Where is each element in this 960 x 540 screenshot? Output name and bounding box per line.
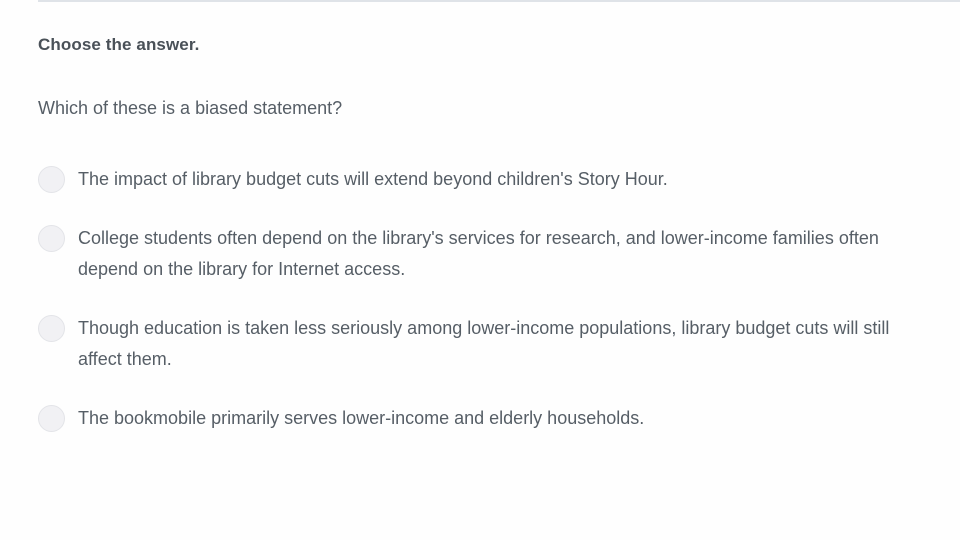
top-divider bbox=[38, 0, 960, 2]
answer-options-list: The impact of library budget cuts will e… bbox=[38, 120, 922, 434]
answer-option-1[interactable]: The impact of library budget cuts will e… bbox=[38, 164, 922, 195]
quiz-question-panel: Choose the answer. Which of these is a b… bbox=[0, 0, 960, 540]
prompt-heading: Choose the answer. bbox=[38, 34, 922, 56]
radio-button-icon[interactable] bbox=[38, 315, 65, 342]
answer-option-label: The bookmobile primarily serves lower-in… bbox=[78, 403, 644, 434]
radio-button-icon[interactable] bbox=[38, 166, 65, 193]
answer-option-label: Though education is taken less seriously… bbox=[78, 313, 908, 375]
answer-option-label: The impact of library budget cuts will e… bbox=[78, 164, 668, 195]
answer-option-label: College students often depend on the lib… bbox=[78, 223, 908, 285]
radio-button-icon[interactable] bbox=[38, 225, 65, 252]
radio-button-icon[interactable] bbox=[38, 405, 65, 432]
answer-option-2[interactable]: College students often depend on the lib… bbox=[38, 223, 922, 285]
answer-option-3[interactable]: Though education is taken less seriously… bbox=[38, 313, 922, 375]
answer-option-4[interactable]: The bookmobile primarily serves lower-in… bbox=[38, 403, 922, 434]
question-content: Choose the answer. Which of these is a b… bbox=[0, 0, 960, 434]
question-text: Which of these is a biased statement? bbox=[38, 56, 922, 120]
